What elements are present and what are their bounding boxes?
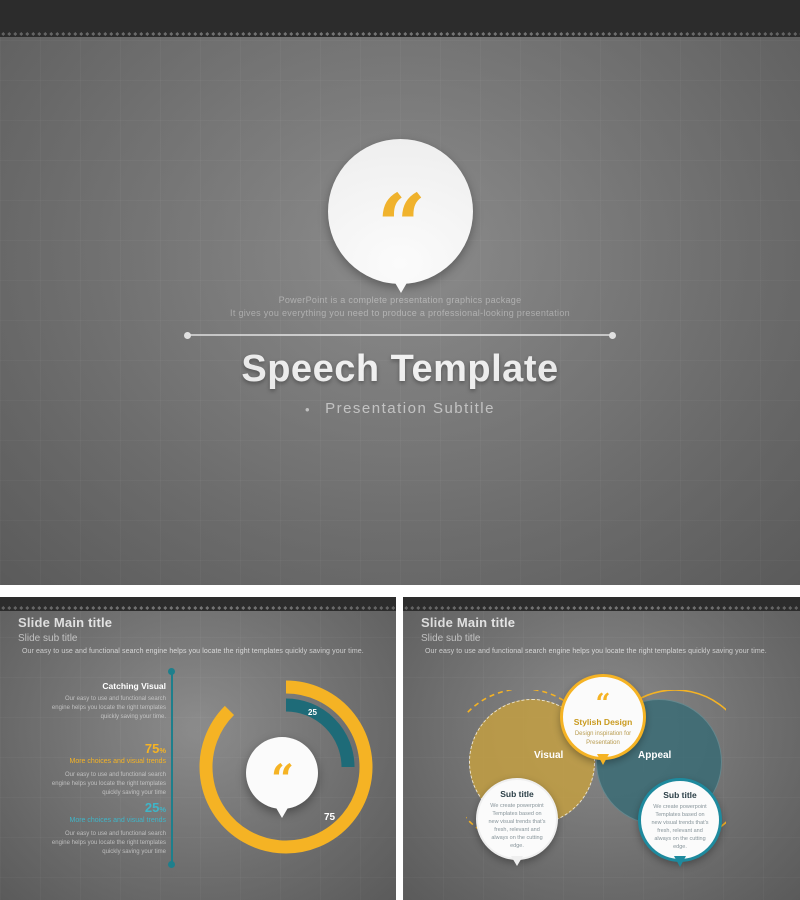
bullet-icon: • xyxy=(305,402,311,417)
rule-dot-left xyxy=(184,332,191,339)
slide-right-description: Our easy to use and functional search en… xyxy=(425,648,767,655)
hero-subtitle-text: Presentation Subtitle xyxy=(325,400,495,417)
hero-slide: “ PowerPoint is a complete presentation … xyxy=(0,0,800,585)
bubble-stylish-design[interactable]: “ Stylish Design Design inspiration for … xyxy=(560,674,646,760)
hero-lead-line-2: It gives you everything you need to prod… xyxy=(0,307,800,320)
timeline-item-2[interactable]: 25% More choices and visual trends Our e… xyxy=(48,800,166,857)
hero-lead-text: PowerPoint is a complete presentation gr… xyxy=(0,294,800,320)
bubble-tail xyxy=(394,281,408,293)
hero-speech-bubble: “ xyxy=(328,139,473,284)
quote-mark-icon: “ xyxy=(596,695,611,713)
bubble-stylish-design-body: Design inspiration for Presentation xyxy=(563,730,643,747)
venn-label-visual: Visual xyxy=(534,750,563,761)
bubble-tail xyxy=(597,754,609,765)
hero-subtitle: •Presentation Subtitle xyxy=(0,400,800,417)
donut-label-inner: 25 xyxy=(308,708,317,717)
timeline-item-0-heading: Catching Visual xyxy=(48,681,166,691)
bubble-stylish-design-title: Stylish Design xyxy=(574,717,633,727)
hero-lead-line-1: PowerPoint is a complete presentation gr… xyxy=(0,294,800,307)
slide-right-main-title: Slide Main title xyxy=(421,615,515,630)
timeline-item-2-caption: More choices and visual trends xyxy=(48,816,166,826)
slide-left-description: Our easy to use and functional search en… xyxy=(22,648,364,655)
torn-edge-strip-left xyxy=(0,597,396,606)
timeline-item-0-body: Our easy to use and functional search en… xyxy=(48,695,166,722)
timeline-item-1[interactable]: 75% More choices and visual trends Our e… xyxy=(48,741,166,798)
bubble-tail xyxy=(674,856,686,867)
timeline-item-2-value: 25% xyxy=(48,800,166,815)
timeline-axis xyxy=(171,671,173,864)
hero-divider-rule xyxy=(188,334,612,336)
bubble-sub-title-right[interactable]: Sub title We create powerpoint Templates… xyxy=(638,778,722,862)
bubble-tail xyxy=(275,806,289,818)
quote-mark-icon: “ xyxy=(271,760,293,800)
slide-left-main-title: Slide Main title xyxy=(18,615,112,630)
quote-mark-icon: “ xyxy=(377,184,424,270)
page-title: Speech Template xyxy=(0,348,800,391)
bubble-tail xyxy=(511,856,523,866)
donut-center-bubble: “ xyxy=(246,737,318,809)
bubble-sub-title-left[interactable]: Sub title We create powerpoint Templates… xyxy=(476,778,558,860)
timeline-item-1-body: Our easy to use and functional search en… xyxy=(48,771,166,798)
venn-label-appeal: Appeal xyxy=(638,750,671,761)
timeline-dot-bottom xyxy=(168,861,175,868)
bubble-right-body: We create powerpoint Templates based on … xyxy=(641,803,719,851)
timeline-item-1-caption: More choices and visual trends xyxy=(48,757,166,767)
bubble-left-body: We create powerpoint Templates based on … xyxy=(478,802,556,850)
donut-label-outer: 75 xyxy=(324,812,335,823)
bubble-left-title: Sub title xyxy=(500,789,534,799)
bubble-right-title: Sub title xyxy=(663,790,697,800)
timeline-dot-top xyxy=(168,668,175,675)
torn-edge-strip-right xyxy=(403,597,800,606)
slide-left-sub-title: Slide sub title xyxy=(18,633,77,644)
rule-dot-right xyxy=(609,332,616,339)
timeline-item-2-body: Our easy to use and functional search en… xyxy=(48,830,166,857)
timeline-item-0[interactable]: Catching Visual Our easy to use and func… xyxy=(48,681,166,722)
torn-edge-strip xyxy=(0,0,800,32)
slide-right-sub-title: Slide sub title xyxy=(421,633,480,644)
timeline-item-1-value: 75% xyxy=(48,741,166,756)
